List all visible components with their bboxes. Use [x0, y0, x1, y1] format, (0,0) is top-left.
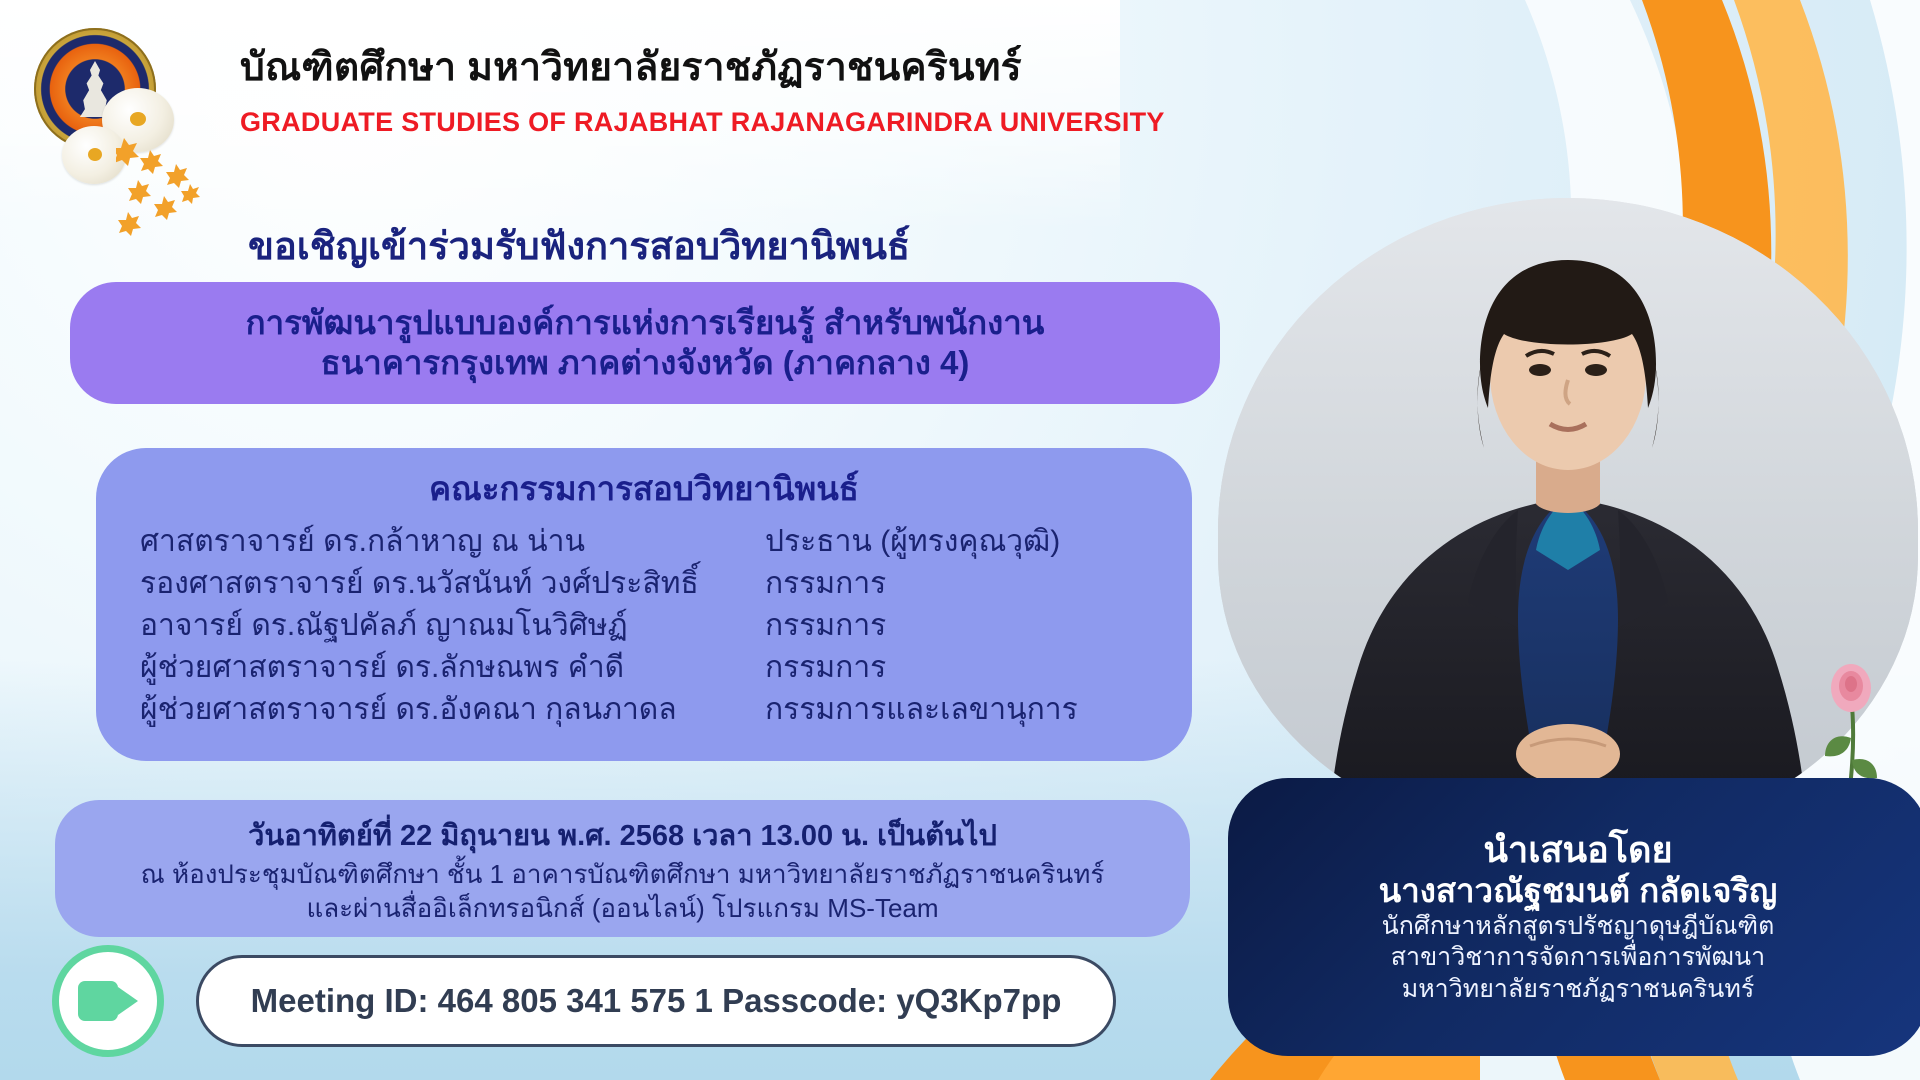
event-venue-line-1: ณ ห้องประชุมบัณฑิตศึกษา ชั้น 1 อาคารบัณฑ…	[141, 858, 1105, 892]
committee-member-name: รองศาสตราจารย์ ดร.นวัสนันท์ วงศ์ประสิทธิ…	[140, 563, 765, 605]
meeting-id-text: Meeting ID: 464 805 341 575 1 Passcode: …	[251, 982, 1062, 1020]
event-datetime: วันอาทิตย์ที่ 22 มิถุนายน พ.ศ. 2568 เวลา…	[248, 812, 997, 858]
header-titles: บัณฑิตศึกษา มหาวิทยาลัยราชภัฏราชนครินทร์…	[240, 36, 1165, 138]
committee-row: ผู้ช่วยศาสตราจารย์ ดร.อังคณา กุลนภาดล กร…	[140, 689, 1148, 731]
datetime-venue-card: วันอาทิตย์ที่ 22 มิถุนายน พ.ศ. 2568 เวลา…	[55, 800, 1190, 937]
committee-member-name: ผู้ช่วยศาสตราจารย์ ดร.อังคณา กุลนภาดล	[140, 689, 765, 731]
meeting-id-pill[interactable]: Meeting ID: 464 805 341 575 1 Passcode: …	[196, 955, 1116, 1047]
thesis-title-card: การพัฒนารูปแบบองค์การแห่งการเรียนรู้ สำห…	[70, 282, 1220, 404]
presenter-info-card: นำเสนอโดย นางสาวณัฐชมนต์ กลัดเจริญ นักศึ…	[1228, 778, 1920, 1056]
committee-row: ศาสตราจารย์ ดร.กล้าหาญ ณ น่าน ประธาน (ผู…	[140, 521, 1148, 563]
committee-member-role: กรรมการและเลขานุการ	[765, 689, 1078, 731]
committee-row: ผู้ช่วยศาสตราจารย์ ดร.ลักษณพร คำดี กรรมก…	[140, 647, 1148, 689]
header-title-english: GRADUATE STUDIES OF RAJABHAT RAJANAGARIN…	[240, 107, 1165, 138]
event-venue-line-2: และผ่านสื่ออิเล็กทรอนิกส์ (ออนไลน์) โปรแ…	[306, 892, 938, 926]
committee-row: รองศาสตราจารย์ ดร.นวัสนันท์ วงศ์ประสิทธิ…	[140, 563, 1148, 605]
logo-block	[24, 22, 204, 192]
camera-glyph	[78, 981, 138, 1021]
camera-body	[78, 981, 118, 1021]
committee-member-name: อาจารย์ ดร.ณัฐปคัลภ์ ญาณมโนวิศิษฏ์	[140, 605, 765, 647]
camera-lens	[118, 987, 138, 1015]
presenter-name: นางสาวณัฐชมนต์ กลัดเจริญ	[1379, 872, 1778, 911]
committee-member-role: กรรมการ	[765, 563, 886, 605]
invitation-heading: ขอเชิญเข้าร่วมรับฟังการสอบวิทยานิพนธ์	[248, 215, 910, 276]
committee-card: คณะกรรมการสอบวิทยานิพนธ์ ศาสตราจารย์ ดร.…	[96, 448, 1192, 761]
golden-petals-icon	[116, 134, 246, 244]
header-title-thai: บัณฑิตศึกษา มหาวิทยาลัยราชภัฏราชนครินทร์	[240, 36, 1165, 98]
committee-member-name: ผู้ช่วยศาสตราจารย์ ดร.ลักษณพร คำดี	[140, 647, 765, 689]
committee-member-name: ศาสตราจารย์ ดร.กล้าหาญ ณ น่าน	[140, 521, 765, 563]
presenter-program-line-2: สาขาวิชาการจัดการเพื่อการพัฒนา	[1391, 942, 1765, 974]
flower-core-2	[88, 148, 102, 161]
presenter-program-line-1: นักศึกษาหลักสูตรปรัชญาดุษฎีบัณฑิต	[1382, 911, 1775, 943]
committee-member-role: กรรมการ	[765, 605, 886, 647]
committee-row: อาจารย์ ดร.ณัฐปคัลภ์ ญาณมโนวิศิษฏ์ กรรมก…	[140, 605, 1148, 647]
committee-member-role: ประธาน (ผู้ทรงคุณวุฒิ)	[765, 521, 1060, 563]
thesis-title-line-2: ธนาคารกรุงเทพ ภาคต่างจังหวัด (ภาคกลาง 4)	[321, 343, 970, 383]
committee-list: ศาสตราจารย์ ดร.กล้าหาญ ณ น่าน ประธาน (ผู…	[96, 521, 1192, 731]
committee-heading: คณะกรรมการสอบวิทยานิพนธ์	[96, 462, 1192, 515]
committee-member-role: กรรมการ	[765, 647, 886, 689]
flower-core-1	[130, 112, 146, 126]
thesis-title-line-1: การพัฒนารูปแบบองค์การแห่งการเรียนรู้ สำห…	[246, 303, 1045, 343]
presenter-university: มหาวิทยาลัยราชภัฏราชนครินทร์	[1402, 974, 1755, 1006]
video-camera-icon	[52, 945, 164, 1057]
presenter-heading: นำเสนอโดย	[1483, 829, 1672, 870]
